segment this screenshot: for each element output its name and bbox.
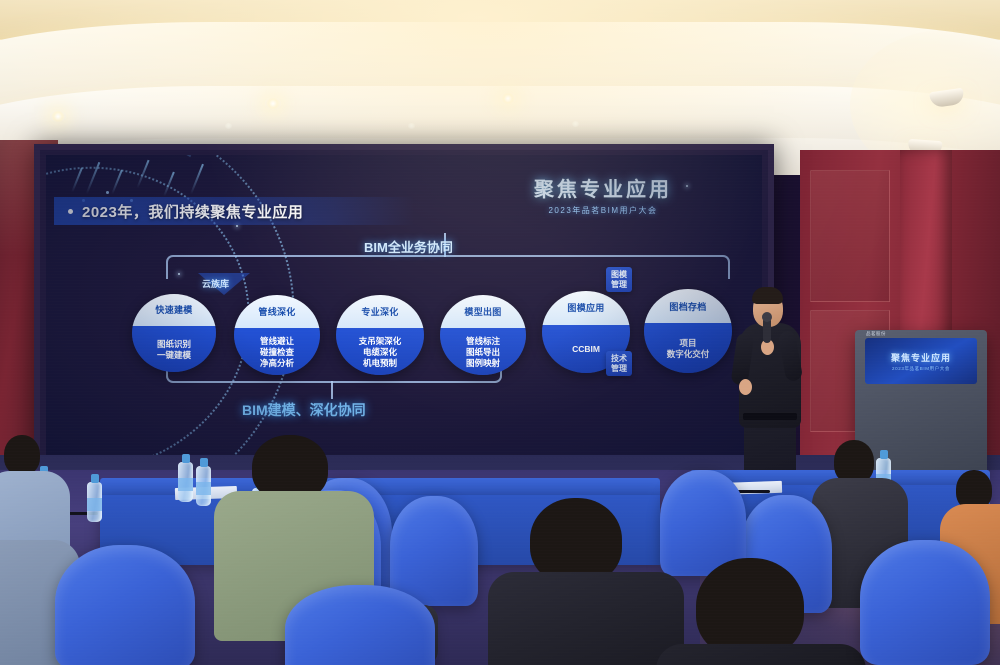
downlight-icon bbox=[408, 123, 415, 129]
chair-back bbox=[55, 545, 195, 665]
bottle-label bbox=[87, 498, 102, 511]
person-head bbox=[4, 435, 40, 475]
downlight-icon bbox=[50, 110, 66, 123]
podium-screen: 聚焦专业应用 2023年品茗BIM用户大会 bbox=[865, 338, 977, 384]
podium-brand-label: 品茗股份 bbox=[866, 331, 886, 337]
chair-back bbox=[285, 585, 435, 665]
water-bottle bbox=[196, 466, 211, 506]
podium-screen-title: 聚焦专业应用 bbox=[891, 351, 951, 364]
chair-back bbox=[390, 496, 478, 606]
person-head bbox=[696, 558, 804, 658]
person-torso bbox=[488, 572, 684, 665]
downlight-icon bbox=[225, 123, 232, 129]
downlight-icon bbox=[500, 92, 516, 105]
water-bottle bbox=[87, 482, 102, 522]
chair-back bbox=[860, 540, 990, 665]
podium-screen-subtitle: 2023年品茗BIM用户大会 bbox=[892, 366, 950, 372]
microphone-icon bbox=[763, 317, 771, 343]
downlight-icon bbox=[265, 97, 281, 110]
wall-panel bbox=[810, 170, 890, 302]
led-screen: 2023年，我们持续聚焦专业应用 聚焦专业应用 2023年品茗BIM用户大会 B… bbox=[46, 155, 762, 465]
presenter-hand-left bbox=[739, 379, 752, 395]
water-bottle bbox=[178, 462, 193, 502]
conference-room-screenshot: 2023年，我们持续聚焦专业应用 聚焦专业应用 2023年品茗BIM用户大会 B… bbox=[0, 0, 1000, 665]
presenter-hair bbox=[752, 287, 783, 304]
bottle-label bbox=[196, 482, 211, 495]
bottle-label bbox=[178, 478, 193, 491]
person-torso bbox=[656, 644, 866, 665]
presenter-belt bbox=[743, 413, 797, 420]
downlight-icon bbox=[572, 121, 579, 127]
screen-vignette bbox=[46, 155, 762, 465]
